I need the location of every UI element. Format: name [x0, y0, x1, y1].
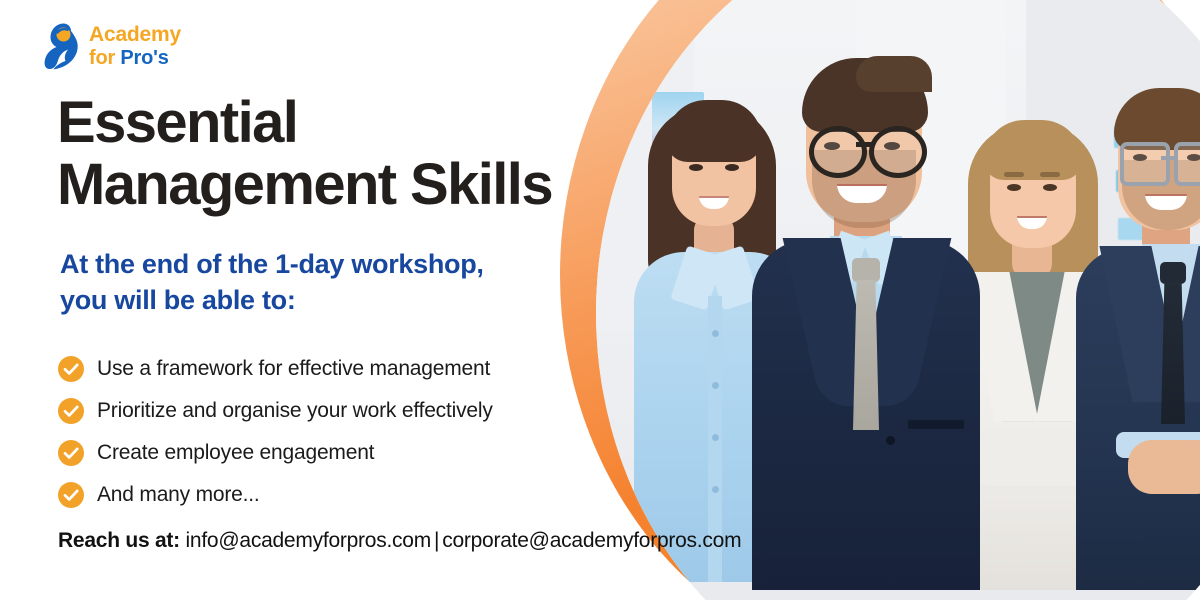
- business-team-photo: [596, 0, 1200, 600]
- list-item: Create employee engagement: [58, 432, 658, 474]
- brand-name-line1: Academy: [89, 24, 181, 45]
- shirt-button: [712, 434, 719, 441]
- glasses-icon: [1120, 142, 1170, 186]
- photo-content: [596, 0, 1200, 600]
- check-circle-icon: [58, 356, 84, 382]
- person-center-man-tie: [853, 280, 879, 430]
- glasses-icon: [809, 126, 867, 178]
- check-circle-icon: [58, 398, 84, 424]
- page-title: Essential Management Skills: [57, 92, 657, 216]
- glasses-bridge: [856, 142, 871, 147]
- person-right-man-hands: [1128, 440, 1200, 494]
- person-left-woman-eye: [725, 164, 739, 171]
- shirt-button: [712, 330, 719, 337]
- jacket-pocket: [908, 420, 964, 429]
- person-right-woman-hair: [984, 120, 1082, 180]
- person-left-woman-brow: [722, 152, 742, 157]
- contact-label: Reach us at:: [58, 529, 180, 552]
- person-right-woman-brow: [1004, 172, 1024, 177]
- check-circle-icon: [58, 482, 84, 508]
- list-item: And many more...: [58, 474, 658, 516]
- list-item-label: Use a framework for effective management: [97, 357, 490, 381]
- glasses-icon: [1174, 142, 1200, 186]
- headline-line-2: Management Skills: [57, 154, 657, 216]
- person-right-woman-eye: [1043, 184, 1057, 191]
- person-right-woman-brow: [1040, 172, 1060, 177]
- brand-name-for: for: [89, 47, 115, 69]
- glasses-bridge: [1161, 156, 1175, 160]
- brand-name-line2: for Pro's: [89, 48, 181, 68]
- person-left-woman-brow: [686, 152, 706, 157]
- contact-footer: Reach us at: info@academyforpros.com|cor…: [58, 529, 741, 553]
- person-right-man-tie-knot: [1160, 262, 1186, 284]
- person-right-man-tie: [1161, 282, 1185, 424]
- list-item-label: Create employee engagement: [97, 441, 374, 465]
- person-right-woman-eye: [1007, 184, 1021, 191]
- learning-outcomes-list: Use a framework for effective management…: [58, 348, 658, 516]
- brand-logo: Academy for Pro's: [38, 22, 181, 70]
- shirt-button: [712, 486, 719, 493]
- shirt-button: [712, 382, 719, 389]
- list-item-label: Prioritize and organise your work effect…: [97, 399, 493, 423]
- contact-email-primary[interactable]: info@academyforpros.com: [185, 529, 431, 552]
- glasses-icon: [869, 126, 927, 178]
- contact-separator: |: [431, 529, 442, 552]
- subheading-line-2: you will be able to:: [60, 283, 640, 319]
- jacket-button: [886, 436, 895, 445]
- contact-email-secondary[interactable]: corporate@academyforpros.com: [442, 529, 741, 552]
- list-item: Use a framework for effective management: [58, 348, 658, 390]
- person-left-woman-eye: [689, 164, 703, 171]
- person-center-man-tie-knot: [852, 258, 880, 282]
- academy-for-pros-logo-icon: [38, 22, 82, 70]
- subheading: At the end of the 1-day workshop, you wi…: [60, 247, 640, 319]
- list-item-label: And many more...: [97, 483, 260, 507]
- check-circle-icon: [58, 440, 84, 466]
- person-center-man-hair-sweep: [856, 56, 932, 92]
- subheading-line-1: At the end of the 1-day workshop,: [60, 247, 640, 283]
- content-panel: Academy for Pro's Essential Management S…: [0, 0, 640, 600]
- brand-name-pros: Pro's: [120, 47, 168, 69]
- brand-logo-text: Academy for Pro's: [89, 24, 181, 68]
- person-left-woman-hair: [666, 100, 762, 162]
- list-item: Prioritize and organise your work effect…: [58, 390, 658, 432]
- headline-line-1: Essential: [57, 92, 657, 154]
- promotional-banner: Academy for Pro's Essential Management S…: [0, 0, 1200, 600]
